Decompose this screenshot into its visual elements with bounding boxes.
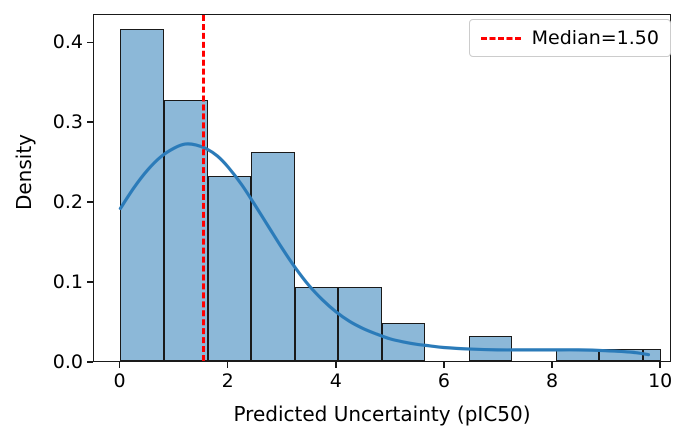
x-tick-label: 10: [630, 370, 687, 392]
x-tick-label: 8: [522, 370, 582, 392]
x-tick-mark: [119, 362, 121, 368]
x-tick-mark: [551, 362, 553, 368]
median-line-swatch: [481, 37, 521, 40]
y-axis-label: Density: [12, 102, 36, 242]
histogram-figure: 0.00.10.20.30.4 Density 0246810 Predicte…: [0, 0, 687, 439]
y-tick-label: 0.3: [53, 110, 83, 134]
x-tick-label: 0: [89, 370, 149, 392]
plot-area: [93, 14, 671, 362]
x-tick-label: 6: [414, 370, 474, 392]
x-tick-mark: [227, 362, 229, 368]
x-tick-mark: [659, 362, 661, 368]
x-axis-label: Predicted Uncertainty (pIC50): [93, 402, 671, 426]
x-tick-label: 4: [306, 370, 366, 392]
median-layer: [94, 15, 670, 361]
y-tick-label: 0.1: [53, 270, 83, 294]
y-tick-label: 0.2: [53, 190, 83, 214]
x-tick-label: 2: [198, 370, 258, 392]
median-line: [202, 15, 205, 361]
legend: Median=1.50: [469, 19, 671, 57]
y-tick-label: 0.4: [53, 30, 83, 54]
x-tick-mark: [443, 362, 445, 368]
legend-label-median: Median=1.50: [532, 27, 659, 49]
x-tick-mark: [335, 362, 337, 368]
